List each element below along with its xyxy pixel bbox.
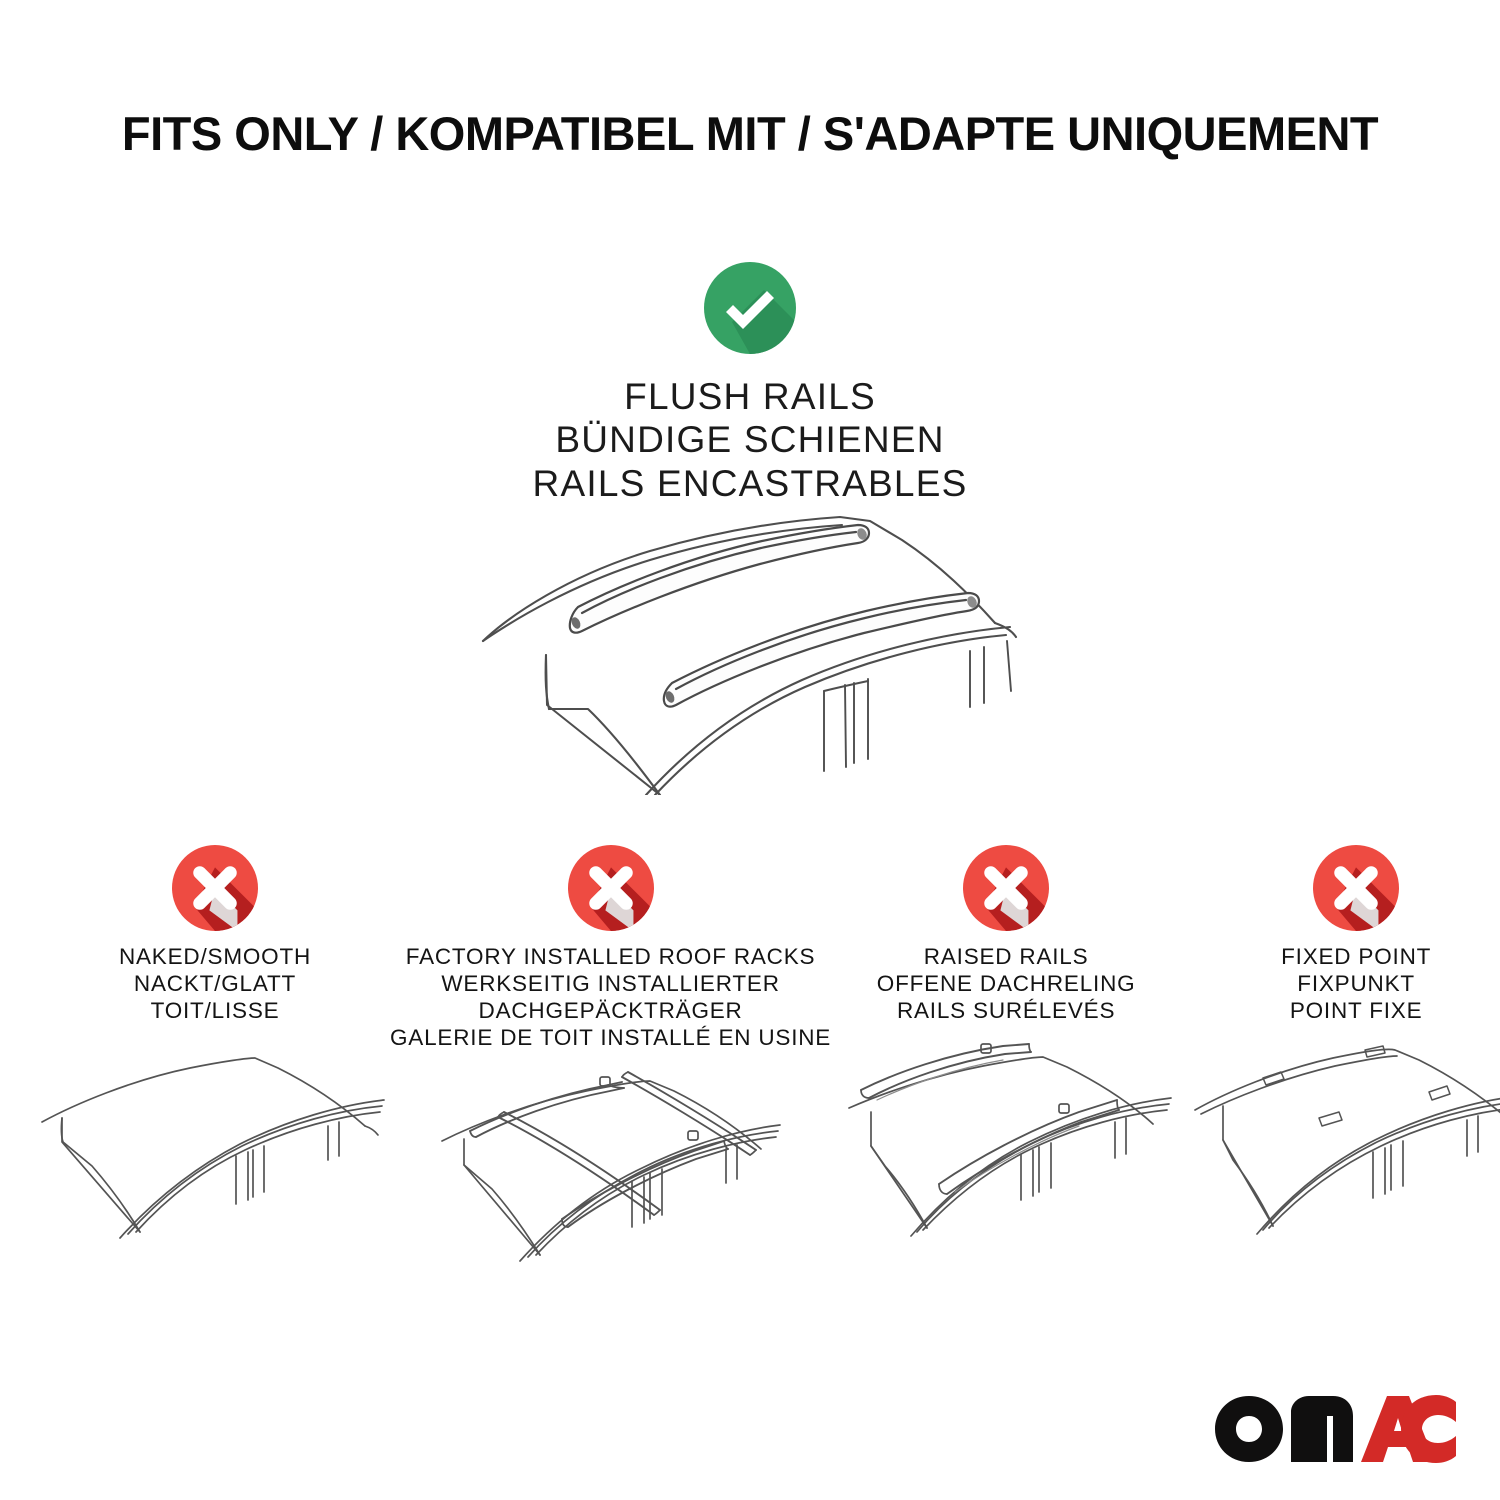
- incompatible-labels: NAKED/SMOOTH NACKT/GLATT TOIT/LISSE: [119, 943, 311, 1024]
- label-de-1: WERKSEITIG INSTALLIERTER: [390, 970, 831, 997]
- label-de: FIXPUNKT: [1281, 970, 1431, 997]
- cross-circle-icon: [963, 845, 1049, 931]
- incompatible-labels: RAISED RAILS OFFENE DACHRELING RAILS SUR…: [877, 943, 1136, 1024]
- naked-smooth-roof-illustration: [40, 1042, 390, 1257]
- incompatible-sections: NAKED/SMOOTH NACKT/GLATT TOIT/LISSE: [40, 845, 1460, 1284]
- label-de: NACKT/GLATT: [119, 970, 311, 997]
- label-en: RAISED RAILS: [877, 943, 1136, 970]
- compatible-labels: FLUSH RAILS BÜNDIGE SCHIENEN RAILS ENCAS…: [0, 375, 1500, 505]
- page-title: FITS ONLY / KOMPATIBEL MIT / S'ADAPTE UN…: [0, 106, 1500, 161]
- compatible-label-de: BÜNDIGE SCHIENEN: [0, 418, 1500, 461]
- label-fr: GALERIE DE TOIT INSTALLÉ EN USINE: [390, 1024, 831, 1051]
- incompatible-labels: FIXED POINT FIXPUNKT POINT FIXE: [1281, 943, 1431, 1024]
- label-en: NAKED/SMOOTH: [119, 943, 311, 970]
- cross-circle-icon: [172, 845, 258, 931]
- incompatible-item-fixed-point: FIXED POINT FIXPUNKT POINT FIXE: [1181, 845, 1500, 1257]
- flush-rails-roof-illustration: [450, 495, 1050, 795]
- fixed-point-illustration: [1181, 1042, 1500, 1257]
- compatible-section: FLUSH RAILS BÜNDIGE SCHIENEN RAILS ENCAS…: [0, 262, 1500, 505]
- label-de: OFFENE DACHRELING: [877, 970, 1136, 997]
- label-fr: TOIT/LISSE: [119, 997, 311, 1024]
- omac-logo: [1213, 1392, 1458, 1464]
- incompatible-item-factory-roof-racks: FACTORY INSTALLED ROOF RACKS WERKSEITIG …: [390, 845, 831, 1284]
- incompatible-labels: FACTORY INSTALLED ROOF RACKS WERKSEITIG …: [390, 943, 831, 1051]
- check-circle-icon: [704, 262, 796, 354]
- label-en: FIXED POINT: [1281, 943, 1431, 970]
- raised-rails-illustration: [831, 1042, 1181, 1257]
- cross-circle-icon: [1313, 845, 1399, 931]
- incompatible-item-raised-rails: RAISED RAILS OFFENE DACHRELING RAILS SUR…: [831, 845, 1181, 1257]
- compatible-label-en: FLUSH RAILS: [0, 375, 1500, 418]
- label-fr: POINT FIXE: [1281, 997, 1431, 1024]
- label-en: FACTORY INSTALLED ROOF RACKS: [390, 943, 831, 970]
- label-de-2: DACHGEPÄCKTRÄGER: [390, 997, 831, 1024]
- label-fr: RAILS SURÉLEVÉS: [877, 997, 1136, 1024]
- factory-roof-racks-illustration: [436, 1069, 786, 1284]
- cross-circle-icon: [568, 845, 654, 931]
- compatibility-infographic: FITS ONLY / KOMPATIBEL MIT / S'ADAPTE UN…: [0, 0, 1500, 1500]
- incompatible-item-naked-smooth: NAKED/SMOOTH NACKT/GLATT TOIT/LISSE: [40, 845, 390, 1257]
